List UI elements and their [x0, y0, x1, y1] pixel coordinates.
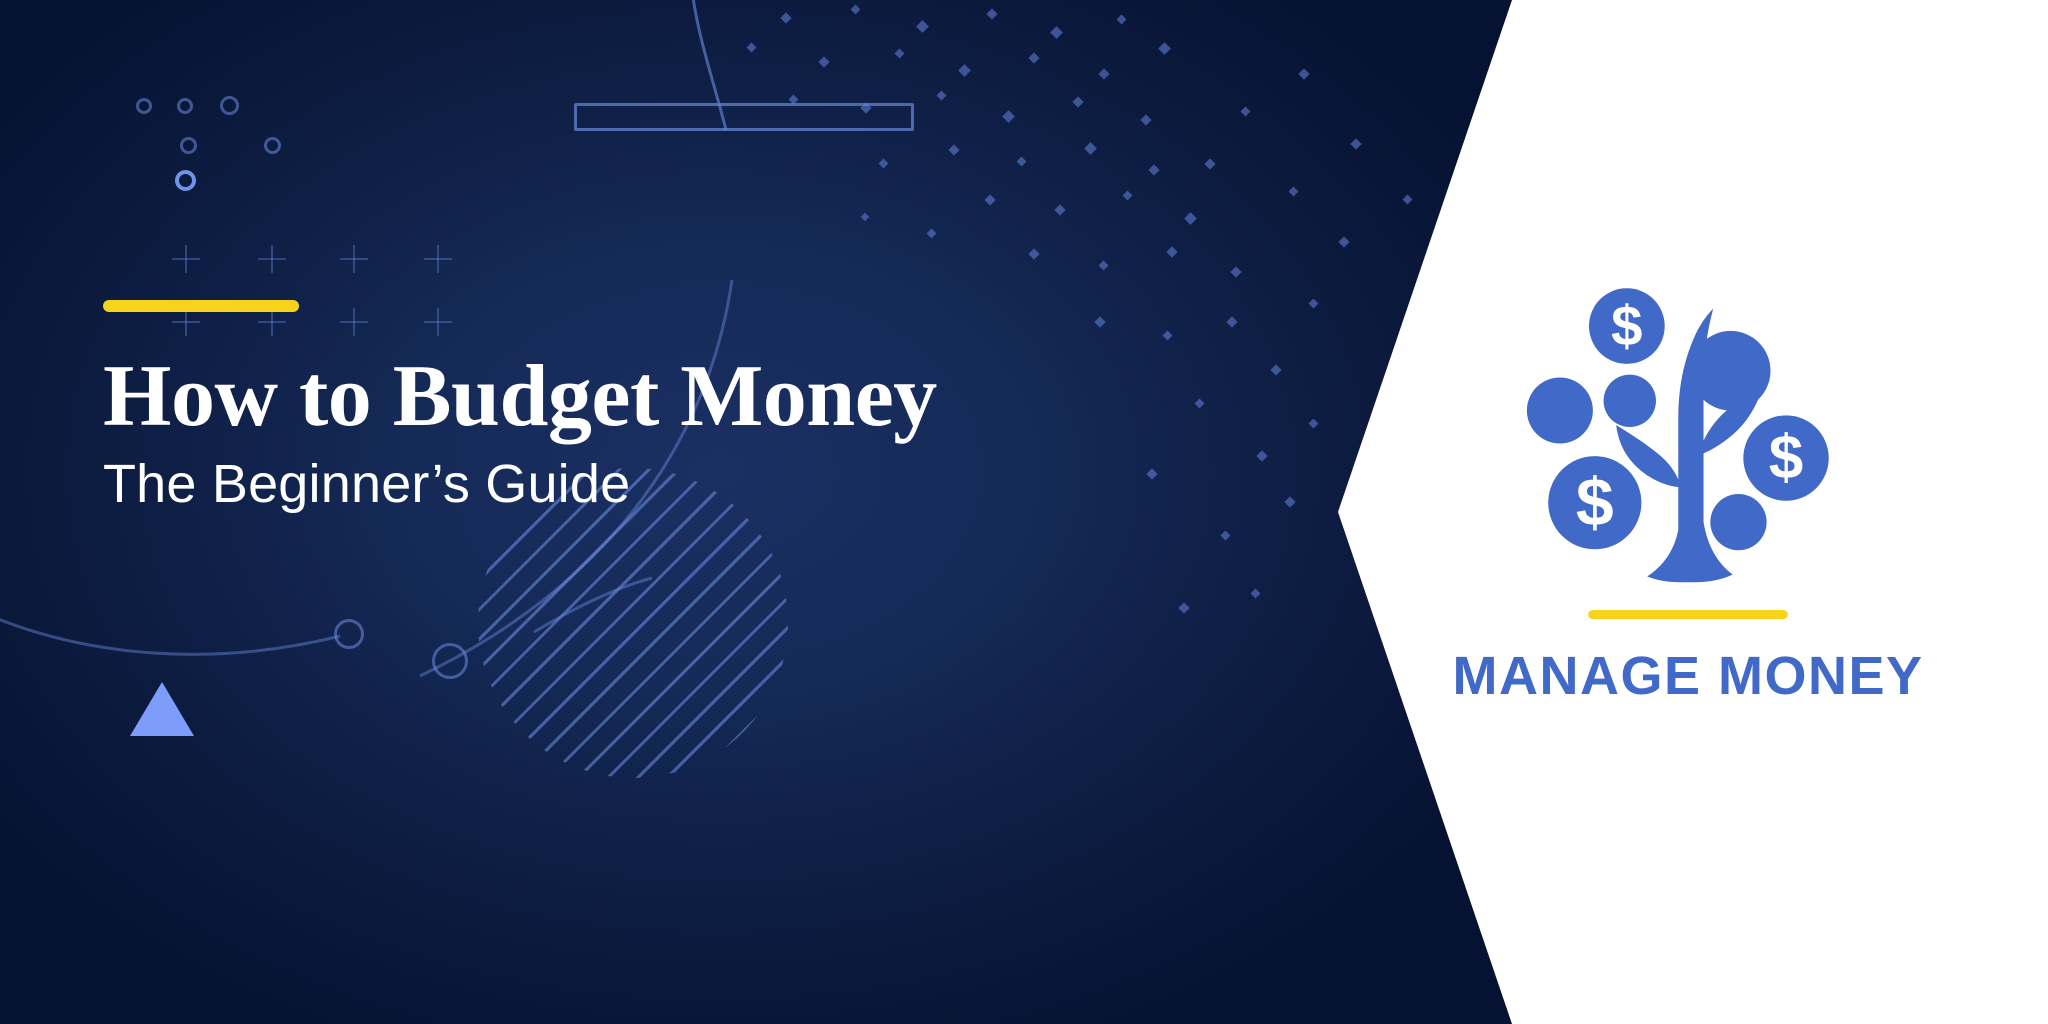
coin-dollar-symbol: $ [1576, 465, 1614, 541]
money-tree-logo-icon: $ $ $ $ [1523, 262, 1853, 592]
logo-divider [1588, 610, 1788, 619]
coin-dollar-symbol: $ [1769, 424, 1804, 493]
logo-wordmark: MANAGE MONEY [1452, 645, 1923, 707]
headline-block: How to Budget Money The Beginner’s Guide [103, 300, 1103, 514]
leaf-circle-icon [1527, 378, 1593, 444]
coin-group: $ $ $ [1527, 288, 1829, 550]
leaf-circle-icon [1710, 494, 1766, 550]
page-title: How to Budget Money [103, 352, 1103, 443]
page-subtitle: The Beginner’s Guide [103, 455, 1103, 514]
leaf-circle-icon [1691, 331, 1771, 411]
leaf-circle-icon [1604, 375, 1656, 427]
logo-panel: $ $ $ $ [1328, 0, 2048, 1024]
accent-bar [103, 300, 299, 312]
banner-root: How to Budget Money The Beginner’s Guide… [0, 0, 2048, 1024]
coin-dollar-symbol: $ [1611, 295, 1642, 358]
